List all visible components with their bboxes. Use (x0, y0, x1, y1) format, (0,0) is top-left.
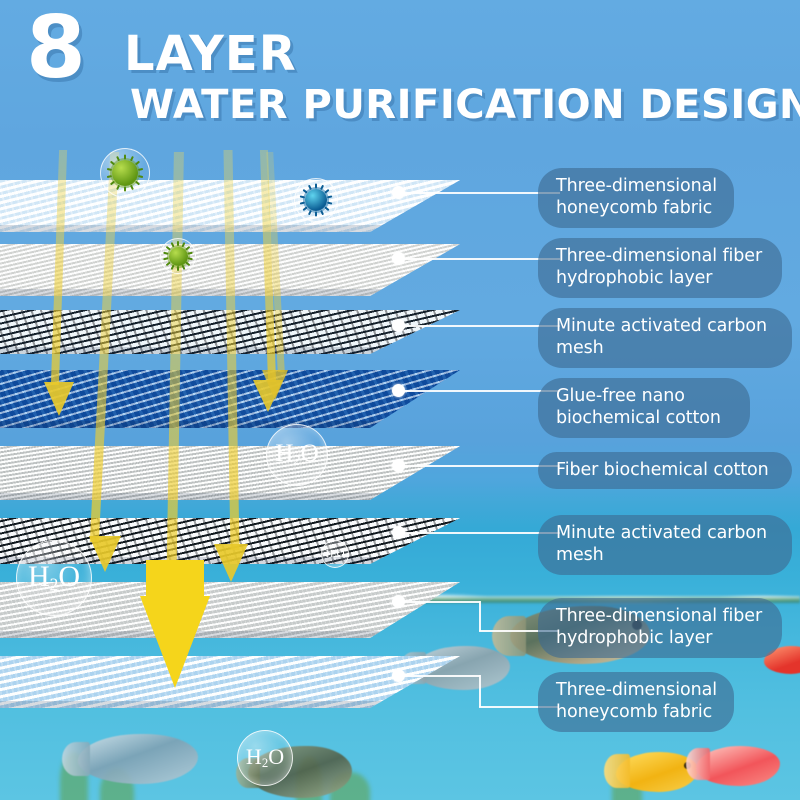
virus-spike (188, 252, 193, 255)
callout-leader-line (479, 675, 481, 707)
callout-leader-line (479, 601, 481, 631)
virus-spike (185, 261, 190, 266)
title-subtitle: WATER PURIFICATION DESIGN (130, 82, 800, 128)
virus-spike (135, 181, 140, 186)
callout-leader-line (404, 675, 480, 677)
virus-spike (302, 206, 307, 211)
h2o-bubble-label: H2O (325, 548, 344, 561)
down-arrow-icon (262, 370, 288, 400)
filter-layer-stack (0, 170, 500, 730)
h2o-bubble-icon: H2O (266, 424, 328, 486)
virus-spike (110, 161, 115, 166)
virus-spike (302, 189, 307, 194)
callout-label-layer-1[interactable]: Three-dimensional honeycomb fabric (538, 168, 734, 228)
callout-leader-line (404, 325, 560, 327)
virus-spike (308, 210, 312, 215)
virus-spike (166, 246, 171, 251)
virus-green-icon (100, 148, 150, 198)
virus-spike (124, 155, 126, 160)
callout-label-layer-2[interactable]: Three-dimensional fiber hydrophobic laye… (538, 238, 782, 298)
h2o-bubble-label: H2O (275, 440, 318, 470)
callout-leader-line (404, 601, 480, 603)
virus-spike (300, 195, 305, 198)
fish-blue-spotted (62, 726, 212, 792)
virus-green-icon (160, 238, 196, 274)
down-arrow-icon (89, 536, 121, 572)
callout-leader-line (404, 192, 560, 194)
virus-spike (324, 206, 329, 211)
virus-spike (116, 156, 120, 161)
h2o-bubble-icon: H2O (237, 730, 293, 786)
virus-spike (171, 265, 175, 270)
virus-spike (107, 168, 112, 171)
callout-label-layer-7[interactable]: Three-dimensional fiber hydrophobic laye… (538, 598, 782, 658)
down-arrow-icon (44, 382, 74, 416)
infographic-canvas: H2O H2O H2O H2O 8 LAYER WATER PURIFICATI… (0, 0, 800, 800)
virus-spike (163, 252, 168, 255)
virus-spike (130, 156, 134, 161)
h2o-bubble-label: H2O (246, 744, 284, 771)
callout-leader-line (404, 390, 560, 392)
callout-label-layer-3[interactable]: Minute activated carbon mesh (538, 308, 792, 368)
callout-label-layer-5[interactable]: Fiber biochemical cotton (538, 452, 792, 489)
callout-leader-line (404, 258, 560, 260)
virus-spike (308, 185, 312, 190)
virus-spike (135, 161, 140, 166)
virus-spike (300, 202, 305, 205)
virus-spike (138, 168, 143, 171)
callout-label-layer-4[interactable]: Glue-free nano biochemical cotton (538, 378, 750, 438)
down-arrow-icon (140, 596, 210, 688)
virus-spike (171, 242, 175, 247)
virus-spike (130, 185, 134, 190)
virus-spike (315, 184, 317, 189)
title-number: 8 (26, 0, 84, 98)
h2o-bubble-label: H2O (28, 560, 80, 595)
virus-spike (124, 187, 126, 192)
virus-spike (116, 185, 120, 190)
virus-spike (163, 257, 168, 260)
title-word: LAYER (124, 26, 297, 82)
virus-spike (181, 242, 185, 247)
down-arrow-icon (214, 544, 248, 582)
h2o-bubble-icon: H2O (16, 540, 92, 616)
virus-spike (320, 210, 324, 215)
callout-label-layer-8[interactable]: Three-dimensional honeycomb fabric (538, 672, 734, 732)
virus-spike (327, 195, 332, 198)
virus-spike (324, 189, 329, 194)
virus-spike (166, 261, 171, 266)
virus-spike (181, 265, 185, 270)
down-arrow-icon (146, 560, 204, 606)
callout-label-layer-6[interactable]: Minute activated carbon mesh (538, 515, 792, 575)
virus-spike (177, 266, 179, 271)
h2o-bubble-icon: H2O (321, 540, 349, 568)
virus-spike (138, 175, 143, 178)
virus-spike (327, 202, 332, 205)
callout-leader-line (404, 532, 560, 534)
virus-spike (315, 212, 317, 217)
virus-spike (110, 181, 115, 186)
callout-leader-line (404, 465, 560, 467)
virus-spike (177, 241, 179, 246)
fish-pink (686, 738, 794, 794)
virus-spike (107, 175, 112, 178)
layer-three-dimensional-honeycomb-fabric-2 (0, 656, 460, 708)
virus-spike (188, 257, 193, 260)
virus-spike (185, 246, 190, 251)
virus-spike (320, 185, 324, 190)
virus-blue-icon (294, 178, 338, 222)
